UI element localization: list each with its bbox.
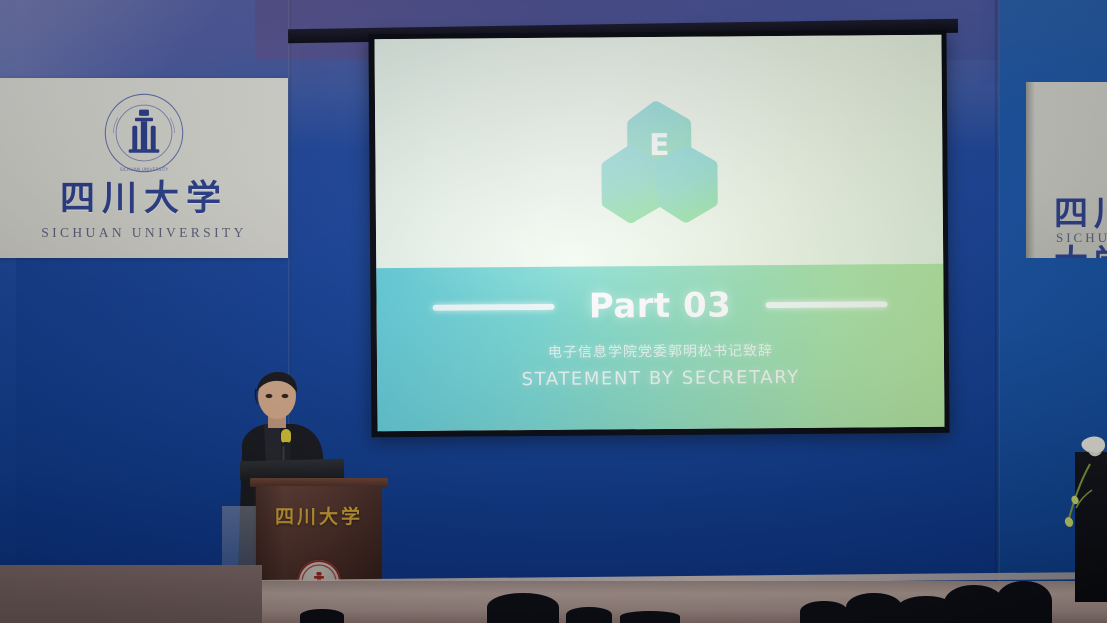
conference-hall-photo: · · SICHUAN UNIVERSITY 四川大学 SICHUAN UNIV… — [0, 0, 1107, 623]
photo-vignette — [0, 0, 1107, 623]
